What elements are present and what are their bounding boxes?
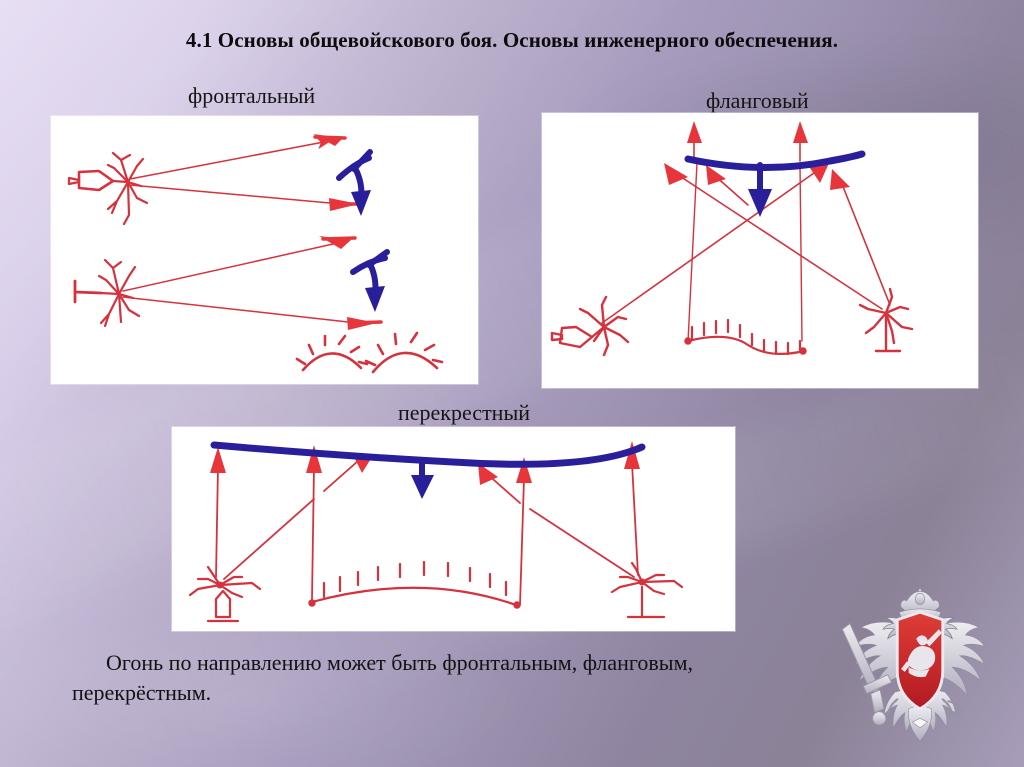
slide-caption: Огонь по направлению может быть фронталь…: [72, 648, 772, 708]
trench-arc-right: [366, 333, 442, 372]
panel-label-frontal: фронтальный: [188, 83, 315, 109]
diagram-cross: [172, 427, 735, 631]
enemy-attack-arrow: [748, 165, 772, 217]
trench-arc-left: [297, 336, 367, 370]
trench-line: [309, 562, 519, 608]
ministry-of-defence-emblem: [822, 580, 1018, 760]
firing-position-upper: [69, 153, 147, 224]
enemy-attack-arrow: [411, 463, 434, 499]
panel-label-cross: перекрестный: [398, 400, 530, 426]
firing-position-left: [552, 297, 628, 355]
enemy-arrowhead-lower: [365, 286, 385, 312]
trench-line: [685, 320, 805, 354]
enemy-front-line: [214, 445, 642, 464]
panel-label-flank: фланговый: [706, 88, 809, 114]
slide-title: 4.1 Основы общевойскового боя. Основы ин…: [0, 28, 1024, 53]
diagram-frontal: [51, 116, 478, 384]
firing-position-right: [860, 289, 912, 351]
diagram-flank: [542, 113, 978, 388]
enemy-front-line: [688, 154, 862, 168]
firing-position-right: [612, 563, 682, 617]
firing-position-lower: [75, 260, 139, 326]
firing-position-left: [190, 567, 260, 621]
